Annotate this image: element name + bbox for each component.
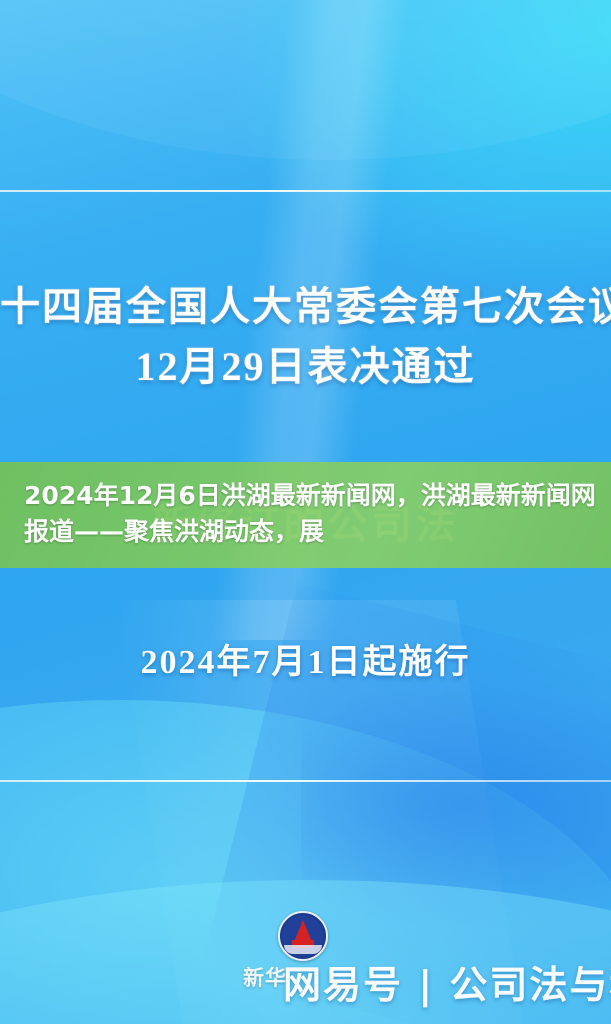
emblem-arc-band [284,945,322,954]
poster-title-line-2: 12月29日表决通过 [0,343,611,391]
source-label: 新华 [243,962,287,992]
article-caption-overlay: 2024年12月6日洪湖最新新闻网，洪湖最新新闻网报道——聚焦洪湖动态，展 [24,478,601,550]
emblem-tower-icon [294,920,312,942]
poster-image: 十四届全国人大常委会第七次会议 12月29日表决通过 新修订的公司法 2024年… [0,0,611,1024]
poster-effective-date: 2024年7月1日起施行 [0,634,611,683]
divider-line-top [0,190,611,192]
divider-line-bottom [0,780,611,782]
xinhua-emblem-icon [278,911,328,961]
publisher-watermark: 网易号 | 公司法与税 [283,963,611,1007]
poster-title-line-1: 十四届全国人大常委会第七次会议 [0,283,611,331]
